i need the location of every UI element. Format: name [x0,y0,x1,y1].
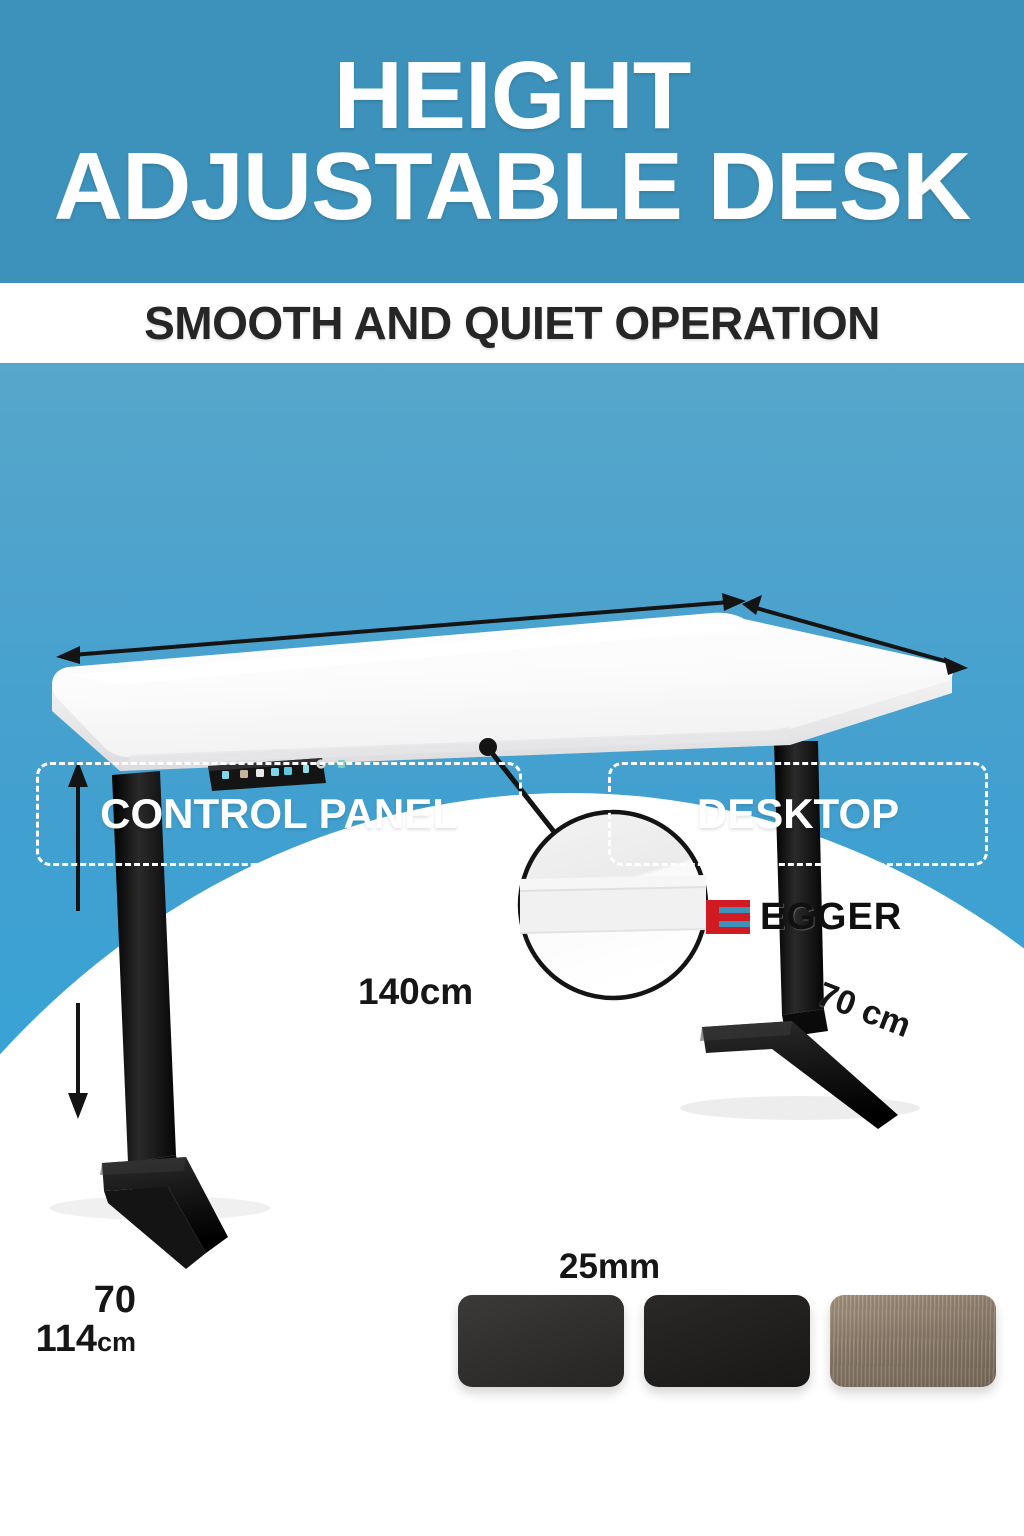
header-banner: HEIGHT ADJUSTABLE DESK [0,0,1024,283]
width-arrow-head-left [56,646,80,664]
depth-arrow-head-end [944,657,968,675]
width-arrow-head-right [722,593,746,611]
width-dimension-label: 140cm [358,971,473,1013]
feature-pill-control-panel[interactable]: CONTROL PANEL [36,762,522,866]
feature-pill-label: DESKTOP [697,790,899,838]
egger-wordmark: EGGER [760,898,902,936]
finish-swatch-group [458,1295,998,1387]
feature-pill-desktop[interactable]: DESKTOP [608,762,988,866]
feature-pill-label: CONTROL PANEL [100,790,458,838]
width-dimension-arrow [72,602,730,655]
egger-brand-logo: EGGER [706,898,902,936]
depth-arrow-head-start [742,595,762,615]
desk-top-surface [52,613,953,771]
subtitle-text: SMOOTH AND QUIET OPERATION [144,296,880,350]
swatch-black[interactable] [644,1295,810,1387]
height-max-value: 114cm [26,1320,136,1359]
title-line-1: HEIGHT [334,51,691,141]
depth-dimension-arrow [756,608,952,663]
callout-anchor-dot [479,738,497,756]
height-dimension-label: 70 114cm [26,1281,136,1359]
egger-e-mark-icon [706,900,750,934]
thickness-value-label: 25mm [559,1247,660,1287]
title-line-2: ADJUSTABLE DESK [54,142,971,232]
height-min-value: 70 [26,1281,136,1320]
swatch-charcoal[interactable] [458,1295,624,1387]
subtitle-banner: SMOOTH AND QUIET OPERATION [0,283,1024,363]
product-infographic: HEIGHT ADJUSTABLE DESK SMOOTH AND QUIET … [0,0,1024,1536]
swatch-oak[interactable] [830,1295,996,1387]
